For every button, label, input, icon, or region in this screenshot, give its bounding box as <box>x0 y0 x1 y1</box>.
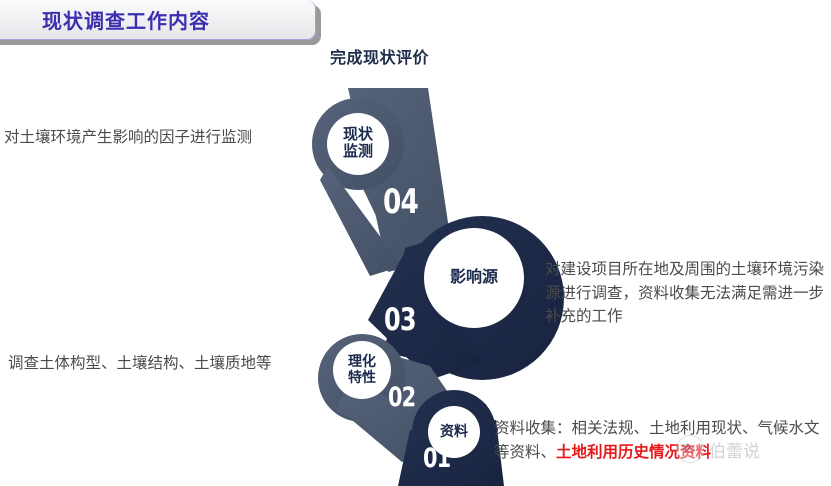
node-circle-02-line1: 理化 <box>348 354 376 370</box>
node-circle-03[interactable]: 影响源 <box>424 228 524 328</box>
node-circle-02-line2: 特性 <box>348 370 376 386</box>
node-circle-04-line1: 现状 <box>343 127 373 144</box>
annotation-left-bottom: 调查土体构型、土壤结构、土壤质地等 <box>8 352 328 376</box>
step-number-04: 04 <box>383 182 418 222</box>
annotation-right-middle: 对建设项目所在地及周围的土壤环境污染源进行调查，资料收集无法满足需进一步补充的工… <box>545 258 831 329</box>
annotation-right-bottom: 资料收集：相关法规、土地利用现状、气候水文等资料、土地利用历史情况资料 <box>494 417 831 464</box>
node-circle-04[interactable]: 现状 监测 <box>327 113 389 175</box>
step-number-02: 02 <box>388 382 415 413</box>
annotation-left-top: 对土壤环境产生影响的因子进行监测 <box>4 126 324 150</box>
node-circle-02[interactable]: 理化 特性 <box>333 341 391 399</box>
annotation-right-bottom-emphasis: 土地利用历史情况资料 <box>556 444 711 461</box>
node-circle-01-line1: 资料 <box>440 424 468 440</box>
node-circle-03-line1: 影响源 <box>450 269 498 287</box>
step-number-01: 01 <box>423 443 450 474</box>
page-title: 现状调查工作内容 <box>42 5 210 34</box>
diagram-heading: 完成现状评价 <box>330 44 429 68</box>
page-title-banner: 现状调查工作内容 <box>0 0 316 40</box>
node-circle-04-line2: 监测 <box>343 144 373 161</box>
step-number-03: 03 <box>384 302 416 338</box>
